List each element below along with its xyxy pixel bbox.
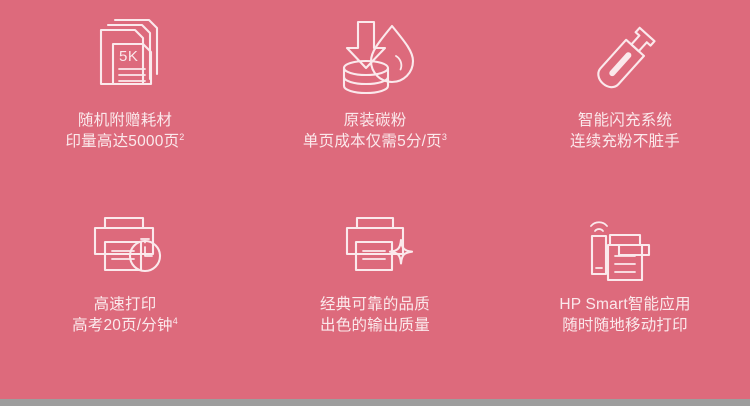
bottom-strip xyxy=(0,399,750,406)
toner-drop-coins-icon xyxy=(329,16,421,102)
feature-line1: HP Smart智能应用 xyxy=(559,296,690,313)
printer-stopwatch-icon xyxy=(79,210,171,286)
feature-line1: 原装碳粉 xyxy=(344,112,407,129)
feature-line2-wrap: 印量高达5000页2 xyxy=(65,131,184,152)
feature-tile-supplies: 5K 随机附赠耗材 印量高达5000页2 xyxy=(0,6,250,202)
feature-label-mobile: HP Smart智能应用 随时随地移动打印 xyxy=(559,294,690,336)
feature-line2-wrap: 单页成本仅需5分/页3 xyxy=(303,131,447,152)
feature-line2: 连续充粉不脏手 xyxy=(570,133,680,150)
feature-line2-wrap: 随时随地移动打印 xyxy=(559,315,690,336)
feature-line1: 高速打印 xyxy=(94,296,157,313)
toner-refill-syringe-icon xyxy=(579,16,671,102)
feature-tile-mobile: HP Smart智能应用 随时随地移动打印 xyxy=(500,202,750,398)
feature-grid: 5K 随机附赠耗材 印量高达5000页2 xyxy=(0,0,750,399)
feature-line2: 印量高达5000页 xyxy=(65,133,179,150)
feature-line1: 经典可靠的品质 xyxy=(320,296,430,313)
feature-label-toner-cost: 原装碳粉 单页成本仅需5分/页3 xyxy=(303,110,447,152)
feature-tile-refill: 智能闪充系统 连续充粉不脏手 xyxy=(500,6,750,202)
footnote-marker: 3 xyxy=(442,132,447,142)
feature-line2: 高考20页/分钟 xyxy=(72,317,173,334)
feature-line2: 出色的输出质量 xyxy=(320,317,430,334)
page-badge-5k: 5K xyxy=(119,48,138,65)
feature-tile-toner-cost: 原装碳粉 单页成本仅需5分/页3 xyxy=(250,6,500,202)
mobile-wireless-print-icon xyxy=(579,210,671,286)
feature-line1: 随机附赠耗材 xyxy=(78,112,172,129)
printer-sparkle-icon xyxy=(329,210,421,286)
footnote-marker: 4 xyxy=(173,316,178,326)
feature-tile-speed: 高速打印 高考20页/分钟4 xyxy=(0,202,250,398)
feature-tile-quality: 经典可靠的品质 出色的输出质量 xyxy=(250,202,500,398)
feature-line2: 单页成本仅需5分/页 xyxy=(303,133,442,150)
feature-label-refill: 智能闪充系统 连续充粉不脏手 xyxy=(570,110,680,152)
feature-line2-wrap: 高考20页/分钟4 xyxy=(72,315,178,336)
footnote-marker: 2 xyxy=(179,132,184,142)
feature-line2: 随时随地移动打印 xyxy=(562,317,688,334)
feature-label-quality: 经典可靠的品质 出色的输出质量 xyxy=(320,294,430,336)
feature-line2-wrap: 出色的输出质量 xyxy=(320,315,430,336)
page-stack-5k-icon: 5K xyxy=(79,16,171,102)
feature-line1: 智能闪充系统 xyxy=(578,112,672,129)
feature-label-speed: 高速打印 高考20页/分钟4 xyxy=(72,294,178,336)
feature-label-supplies: 随机附赠耗材 印量高达5000页2 xyxy=(65,110,184,152)
feature-line2-wrap: 连续充粉不脏手 xyxy=(570,131,680,152)
feature-banner: 5K 随机附赠耗材 印量高达5000页2 xyxy=(0,0,750,399)
